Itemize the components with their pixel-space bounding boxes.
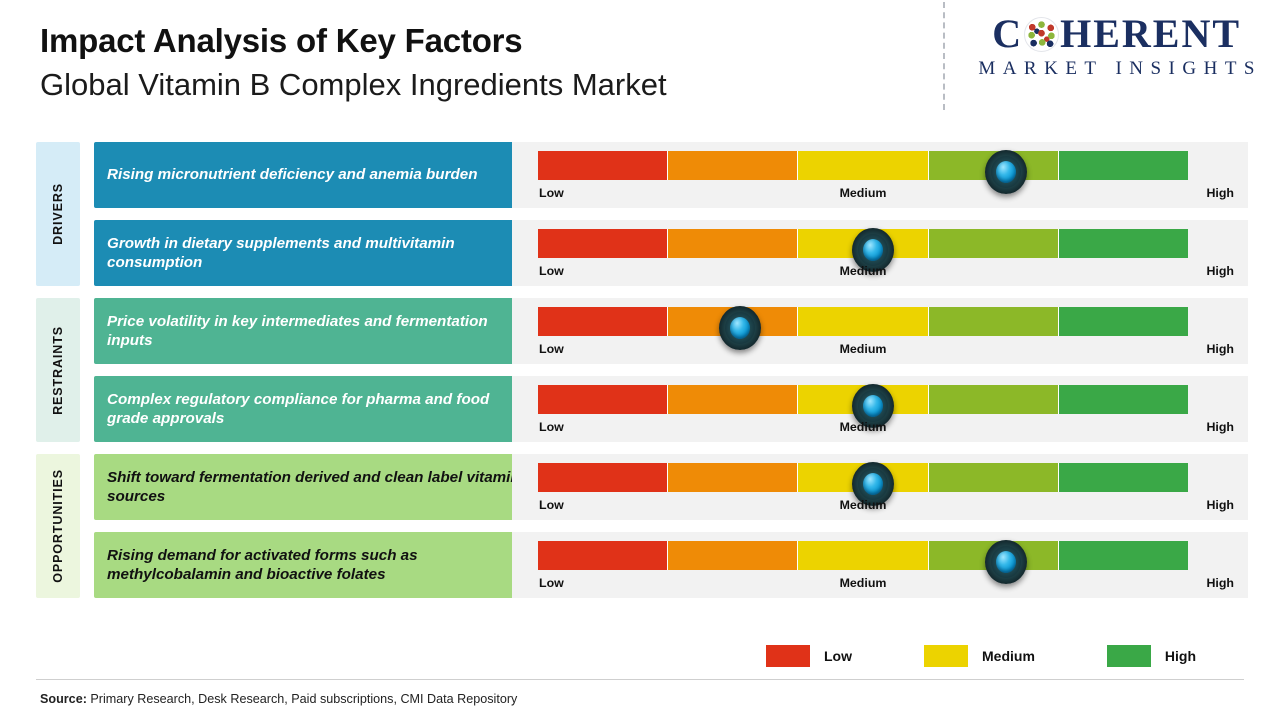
gauge-segment-green [1059, 463, 1188, 492]
factor-text: Complex regulatory compliance for pharma… [107, 390, 525, 429]
matrix-row: Complex regulatory compliance for pharma… [36, 376, 1252, 442]
legend-label: Medium [982, 648, 1035, 664]
gauge-segment-green [1059, 151, 1188, 180]
factor-text: Price volatility in key intermediates an… [107, 312, 525, 351]
gauge-segment-green [1059, 541, 1188, 570]
logo-divider [943, 2, 945, 110]
scale-label-medium: Medium [512, 342, 1214, 356]
gauge-segment-yellow [798, 307, 928, 336]
scale-label-high: High [1206, 498, 1234, 512]
factor-text: Rising micronutrient deficiency and anem… [107, 165, 477, 184]
source-label: Source: [40, 692, 87, 706]
gauge-segment-yellow-green [929, 307, 1059, 336]
gauge-segment-red [538, 229, 668, 258]
page-subtitle: Global Vitamin B Complex Ingredients Mar… [40, 66, 667, 103]
source-note: Source: Primary Research, Desk Research,… [40, 692, 517, 706]
legend-item: High [1107, 645, 1196, 667]
legend-item: Medium [924, 645, 1035, 667]
marker-core-icon [996, 551, 1016, 573]
gauge-segment-red [538, 541, 668, 570]
factor-box[interactable]: Rising demand for activated forms such a… [94, 532, 538, 598]
logo-letter-c: C [992, 14, 1023, 54]
gauge-bar [538, 151, 1188, 180]
gauge-segment-orange [668, 151, 798, 180]
scale-label-high: High [1206, 186, 1234, 200]
gauge-bar [538, 541, 1188, 570]
gauge-bar [538, 307, 1188, 336]
impact-gauge: LowMediumHigh [512, 298, 1248, 364]
marker-core-icon [730, 317, 750, 339]
impact-gauge: LowMediumHigh [512, 376, 1248, 442]
footer-divider [36, 679, 1244, 680]
marker-core-icon [863, 395, 883, 417]
matrix-row: Growth in dietary supplements and multiv… [36, 220, 1252, 286]
legend: LowMediumHigh [766, 645, 1268, 667]
matrix-row: Shift toward fermentation derived and cl… [36, 454, 1252, 520]
impact-gauge: LowMediumHigh [512, 142, 1248, 208]
gauge-segment-green [1059, 385, 1188, 414]
legend-swatch-high [1107, 645, 1151, 667]
marker-core-icon [996, 161, 1016, 183]
matrix-row: Price volatility in key intermediates an… [36, 298, 1252, 364]
page-title: Impact Analysis of Key Factors [40, 22, 667, 60]
legend-label: Low [824, 648, 852, 664]
scale-label-high: High [1206, 264, 1234, 278]
gauge-segment-red [538, 151, 668, 180]
logo-tagline: MARKET INSIGHTS [971, 58, 1262, 80]
company-logo: C HERENT MARKET INSIGHTS [971, 14, 1262, 80]
legend-swatch-medium [924, 645, 968, 667]
factor-box[interactable]: Price volatility in key intermediates an… [94, 298, 538, 364]
impact-gauge: LowMediumHigh [512, 532, 1248, 598]
gauge-segment-red [538, 385, 668, 414]
gauge-segment-yellow-green [929, 229, 1059, 258]
factor-text: Rising demand for activated forms such a… [107, 546, 525, 585]
factor-box[interactable]: Growth in dietary supplements and multiv… [94, 220, 538, 286]
factor-text: Shift toward fermentation derived and cl… [107, 468, 525, 507]
legend-label: High [1165, 648, 1196, 664]
marker-core-icon [863, 239, 883, 261]
scale-label-medium: Medium [512, 264, 1214, 278]
legend-swatch-low [766, 645, 810, 667]
source-text: Primary Research, Desk Research, Paid su… [87, 692, 517, 706]
gauge-segment-yellow-green [929, 385, 1059, 414]
impact-gauge: LowMediumHigh [512, 220, 1248, 286]
scale-label-high: High [1206, 342, 1234, 356]
legend-item: Low [766, 645, 852, 667]
matrix-row: Rising demand for activated forms such a… [36, 532, 1252, 598]
gauge-segment-orange [668, 229, 798, 258]
logo-wordmark: C HERENT [971, 14, 1262, 54]
gauge-segment-yellow-green [929, 463, 1059, 492]
scale-label-medium: Medium [512, 576, 1214, 590]
scale-label-high: High [1206, 576, 1234, 590]
header: Impact Analysis of Key Factors Global Vi… [40, 22, 667, 103]
scale-label-medium: Medium [512, 498, 1214, 512]
gauge-segment-yellow [798, 151, 928, 180]
matrix-row: Rising micronutrient deficiency and anem… [36, 142, 1252, 208]
gauge-segment-green [1059, 307, 1188, 336]
gauge-segment-orange [668, 385, 798, 414]
impact-gauge: LowMediumHigh [512, 454, 1248, 520]
factor-text: Growth in dietary supplements and multiv… [107, 234, 525, 273]
logo-letters-herent: HERENT [1060, 14, 1241, 54]
factor-box[interactable]: Shift toward fermentation derived and cl… [94, 454, 538, 520]
gauge-segment-red [538, 463, 668, 492]
gauge-segment-orange [668, 463, 798, 492]
scale-label-high: High [1206, 420, 1234, 434]
gauge-segment-green [1059, 229, 1188, 258]
gauge-segment-yellow [798, 541, 928, 570]
gauge-segment-orange [668, 541, 798, 570]
gauge-segment-red [538, 307, 668, 336]
scale-label-medium: Medium [512, 186, 1214, 200]
globe-dots-icon [1024, 17, 1059, 52]
infographic-page: Impact Analysis of Key Factors Global Vi… [0, 0, 1280, 720]
factor-box[interactable]: Rising micronutrient deficiency and anem… [94, 142, 538, 208]
scale-label-medium: Medium [512, 420, 1214, 434]
marker-core-icon [863, 473, 883, 495]
factor-box[interactable]: Complex regulatory compliance for pharma… [94, 376, 538, 442]
